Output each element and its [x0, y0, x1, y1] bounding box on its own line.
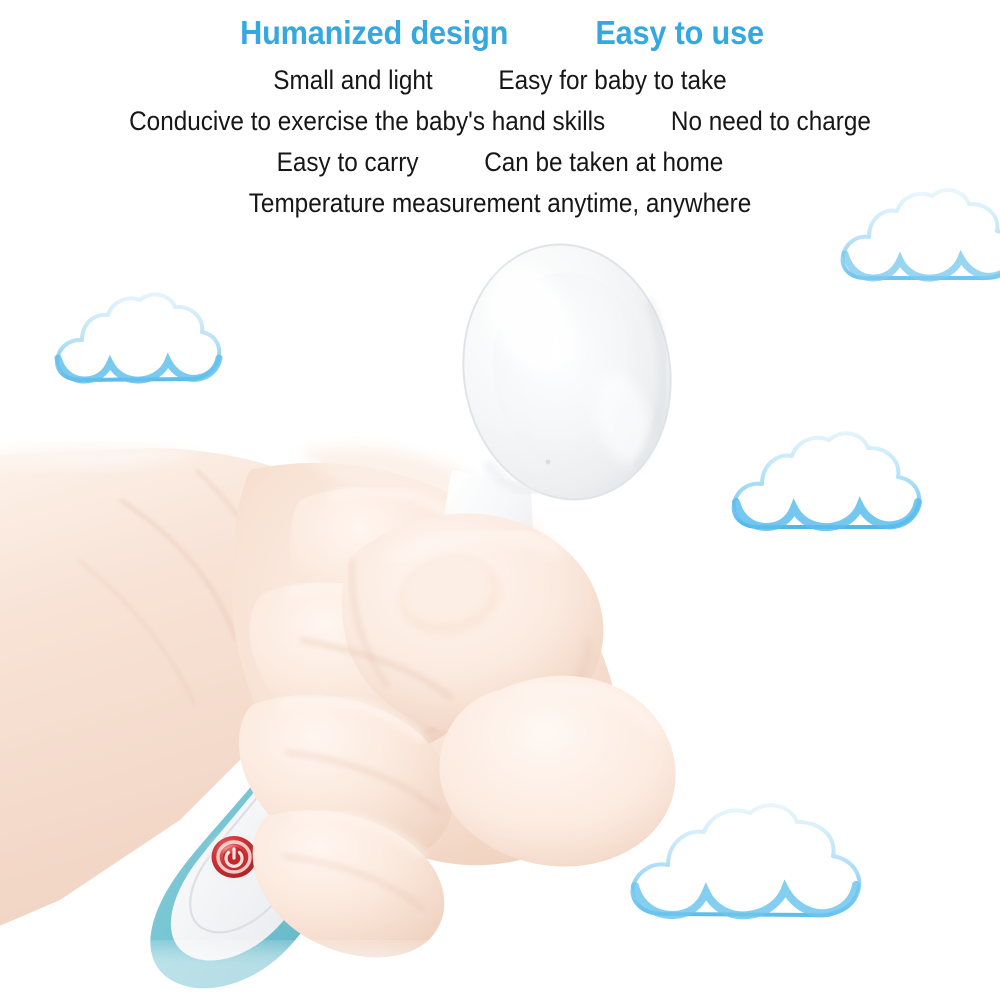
lcd-display: [249, 747, 306, 824]
product-image-canvas: Humanized design Easy to use Small and l…: [0, 0, 1000, 1000]
feature-easy-for-baby-to-take: Easy for baby to take: [498, 65, 726, 95]
cloud-bottom-right: [624, 796, 892, 944]
feature-hand-skills: Conducive to exercise the baby's hand sk…: [129, 106, 605, 136]
baby-fingers: [239, 488, 676, 958]
feature-line-3: Easy to carry Can be taken at home: [50, 142, 950, 183]
feature-anytime-anywhere: Temperature measurement anytime, anywher…: [249, 188, 751, 218]
feature-small-and-light: Small and light: [273, 65, 432, 95]
baby-palm: [232, 446, 619, 865]
feature-line-4: Temperature measurement anytime, anywher…: [50, 183, 950, 224]
feature-line-1: Small and light Easy for baby to take: [50, 60, 950, 101]
spoon: [441, 229, 689, 631]
headline-humanized-design: Humanized design: [240, 16, 508, 51]
power-icon: [226, 849, 242, 866]
marketing-copy: Humanized design Easy to use Small and l…: [0, 0, 1000, 224]
feature-easy-to-carry: Easy to carry: [277, 147, 419, 177]
cloud-left: [48, 292, 228, 407]
feature-taken-at-home: Can be taken at home: [484, 147, 723, 177]
headline-easy-to-use: Easy to use: [595, 16, 764, 51]
cloud-mid-right: [726, 428, 930, 554]
thermometer-device: [150, 592, 369, 988]
feature-line-2: Conducive to exercise the baby's hand sk…: [50, 101, 950, 142]
handle-shell: [150, 592, 369, 988]
power-button[interactable]: [208, 834, 260, 882]
feature-no-need-to-charge: No need to charge: [671, 106, 871, 136]
headline-row: Humanized design Easy to use: [0, 16, 1000, 51]
baby-arm: [0, 444, 370, 930]
